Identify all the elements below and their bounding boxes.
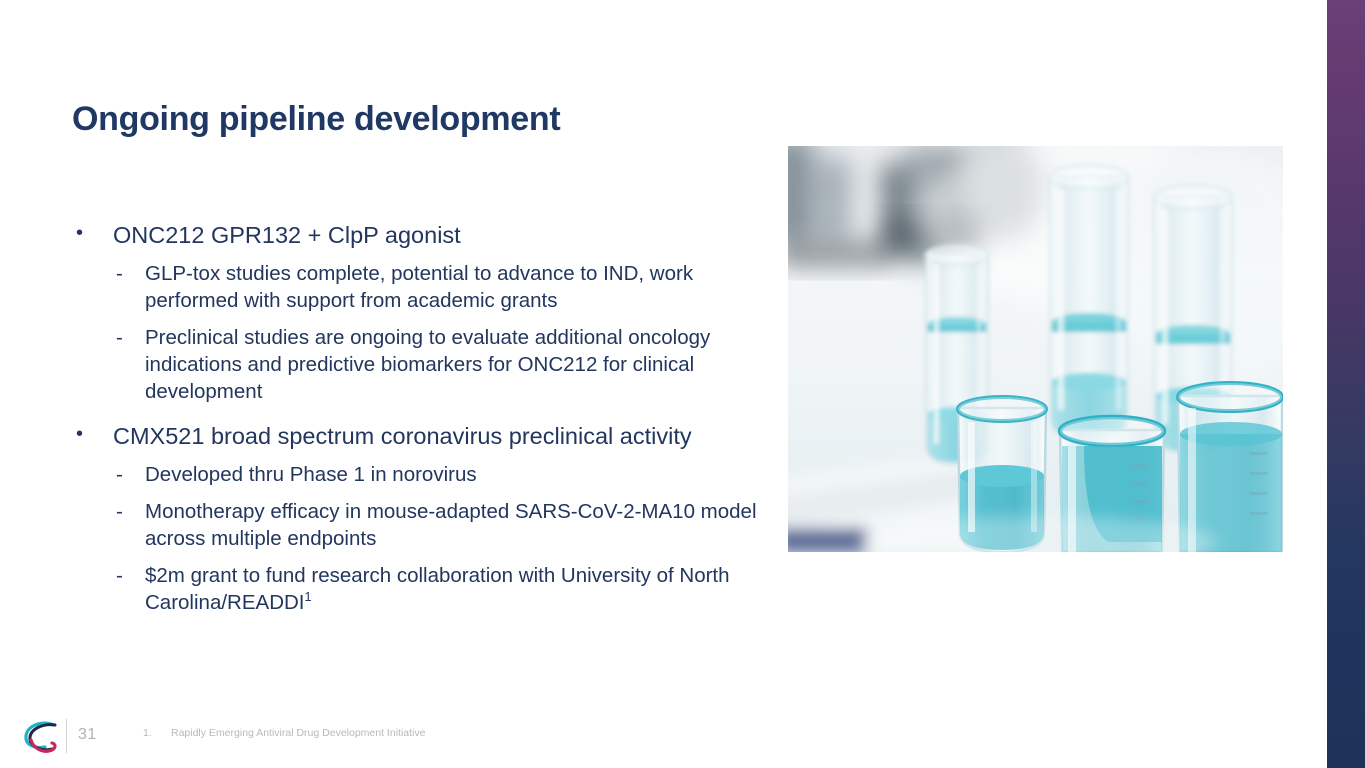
- accent-gradient-bar: [1327, 0, 1365, 768]
- bullet-dash-icon: -: [116, 498, 123, 525]
- laboratory-test-tubes-photo: [788, 146, 1283, 552]
- bullet-group-spacer: [68, 405, 768, 423]
- bullet-level1: • CMX521 broad spectrum coronavirus prec…: [68, 423, 768, 451]
- bullet-list: • ONC212 GPR132 + ClpP agonist - GLP-tox…: [68, 222, 768, 616]
- bullet-dash-icon: -: [116, 461, 123, 488]
- bullet-dash-icon: -: [116, 324, 123, 351]
- slide-canvas: Ongoing pipeline development • ONC212 GP…: [0, 0, 1365, 768]
- bullet-level1: • ONC212 GPR132 + ClpP agonist: [68, 222, 768, 250]
- bullet-level1-text: ONC212 GPR132 + ClpP agonist: [113, 222, 461, 248]
- page-title: Ongoing pipeline development: [72, 100, 560, 139]
- bullet-level2-text: $2m grant to fund research collaboration…: [145, 564, 730, 614]
- footnote-number: 1.: [143, 727, 171, 739]
- bullet-level2-text: Monotherapy efficacy in mouse-adapted SA…: [145, 500, 757, 550]
- bullet-level2: - GLP-tox studies complete, potential to…: [68, 260, 768, 314]
- footer-divider: [66, 719, 67, 753]
- bullet-dot-icon: •: [76, 220, 83, 247]
- bullet-level2-text: Developed thru Phase 1 in norovirus: [145, 463, 477, 486]
- page-number: 31: [78, 726, 97, 744]
- company-swoosh-logo: [19, 716, 63, 760]
- bullet-level1-text: CMX521 broad spectrum coronavirus precli…: [113, 423, 692, 449]
- bullet-level2: - Monotherapy efficacy in mouse-adapted …: [68, 498, 768, 552]
- footnote-text: Rapidly Emerging Antiviral Drug Developm…: [171, 727, 425, 739]
- footnote: 1.Rapidly Emerging Antiviral Drug Develo…: [143, 727, 425, 739]
- bullet-level2: - Preclinical studies are ongoing to eva…: [68, 324, 768, 405]
- footnote-reference: 1: [305, 589, 312, 604]
- bullet-level2: - $2m grant to fund research collaborati…: [68, 562, 768, 616]
- bullet-dot-icon: •: [76, 421, 83, 448]
- bullet-dash-icon: -: [116, 260, 123, 287]
- bullet-level2-text: Preclinical studies are ongoing to evalu…: [145, 326, 710, 403]
- bullet-dash-icon: -: [116, 562, 123, 589]
- bullet-level2: - Developed thru Phase 1 in norovirus: [68, 461, 768, 488]
- bullet-level2-text: GLP-tox studies complete, potential to a…: [145, 262, 693, 312]
